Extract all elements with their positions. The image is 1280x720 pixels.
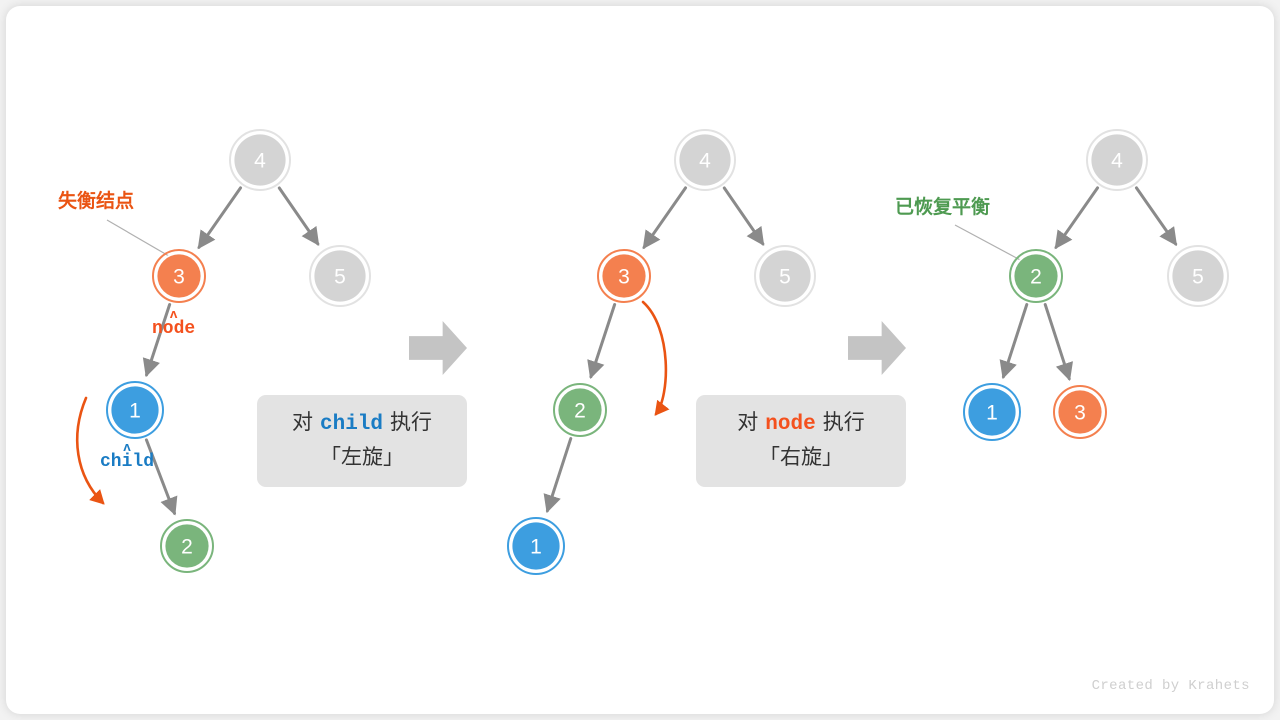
step-prefix: 对 (737, 407, 758, 440)
pointer-label-node-text: node (152, 319, 195, 339)
caret-icon: ʌ (100, 444, 154, 452)
step-prefix: 对 (292, 407, 313, 440)
flow-arrow-1 (409, 321, 467, 375)
tree-node: 4 (230, 130, 290, 190)
tree-node-value: 5 (779, 266, 791, 289)
leader-unbalanced (107, 220, 174, 259)
tree-node-value: 1 (986, 402, 998, 425)
tree-node: 3 (153, 250, 205, 302)
tree-node: 5 (1168, 246, 1228, 306)
step-target-identifier: node (765, 409, 815, 442)
diagram-canvas: 435124352142513 失衡结点 已恢复平衡 ʌ node ʌ chil… (0, 0, 1280, 720)
step-verb: 执行 (823, 407, 865, 440)
leader-line-layer (107, 220, 1024, 262)
tree-node: 2 (1010, 250, 1062, 302)
flow-arrow-2 (848, 321, 906, 375)
tree-node: 4 (1087, 130, 1147, 190)
step-box-right-rotate-line2: 「右旋」 (759, 442, 843, 475)
step-operation: 「右旋」 (759, 442, 843, 475)
step-target-identifier: child (320, 409, 383, 442)
tree-node-value: 2 (181, 536, 193, 559)
pointer-label-node: ʌ node (152, 311, 195, 339)
step-box-right-rotate: 对 node 执行 「右旋」 (696, 395, 906, 487)
tree-edge (1136, 188, 1175, 244)
tree-node-value: 4 (699, 150, 711, 173)
tree-edge (279, 188, 318, 244)
callout-rebalanced: 已恢复平衡 (895, 192, 990, 219)
tree-node: 5 (310, 246, 370, 306)
tree-node: 5 (755, 246, 815, 306)
pointer-label-child-text: child (100, 452, 154, 472)
caret-icon: ʌ (152, 311, 195, 319)
tree-node-value: 4 (1111, 150, 1123, 173)
tree-diagram-svg: 435124352142513 (6, 6, 1274, 714)
tree-node: 3 (1054, 386, 1106, 438)
tree-node-value: 1 (530, 536, 542, 559)
tree-edge (724, 188, 763, 244)
tree-edge (1056, 188, 1097, 247)
step-box-left-rotate: 对 child 执行 「左旋」 (257, 395, 467, 487)
tree-edge (199, 188, 240, 247)
tree-node-value: 5 (1192, 266, 1204, 289)
tree-edge (547, 439, 570, 511)
tree-node: 2 (161, 520, 213, 572)
tree-node-value: 2 (1030, 266, 1042, 289)
tree-edge (1003, 305, 1026, 377)
diagram-card: 435124352142513 失衡结点 已恢复平衡 ʌ node ʌ chil… (6, 6, 1274, 714)
rotate-arrow-2 (643, 302, 666, 414)
step-box-left-rotate-line1: 对 child 执行 (292, 407, 432, 442)
watermark-credit: Created by Krahets (1092, 678, 1250, 694)
tree-node: 3 (598, 250, 650, 302)
tree-edge (644, 188, 685, 247)
tree-node-value: 5 (334, 266, 346, 289)
tree-edge (1045, 305, 1069, 379)
step-box-left-rotate-line2: 「左旋」 (320, 442, 404, 475)
tree-node: 4 (675, 130, 735, 190)
step-verb: 执行 (390, 407, 432, 440)
tree-node-value: 4 (254, 150, 266, 173)
pointer-label-child: ʌ child (100, 444, 154, 472)
tree-node: 1 (508, 518, 564, 574)
callout-unbalanced-node: 失衡结点 (58, 186, 134, 213)
tree-node-value: 1 (129, 400, 141, 423)
tree-node: 2 (554, 384, 606, 436)
leader-rebalanced (955, 225, 1024, 262)
tree-node-value: 3 (1074, 402, 1086, 425)
flow-arrow-layer (409, 321, 906, 375)
tree-node-value: 2 (574, 400, 586, 423)
step-operation: 「左旋」 (320, 442, 404, 475)
tree-node-value: 3 (173, 266, 185, 289)
tree-node: 1 (964, 384, 1020, 440)
tree-edge (591, 305, 615, 377)
tree-node-value: 3 (618, 266, 630, 289)
tree-node: 1 (107, 382, 163, 438)
step-box-right-rotate-line1: 对 node 执行 (737, 407, 864, 442)
